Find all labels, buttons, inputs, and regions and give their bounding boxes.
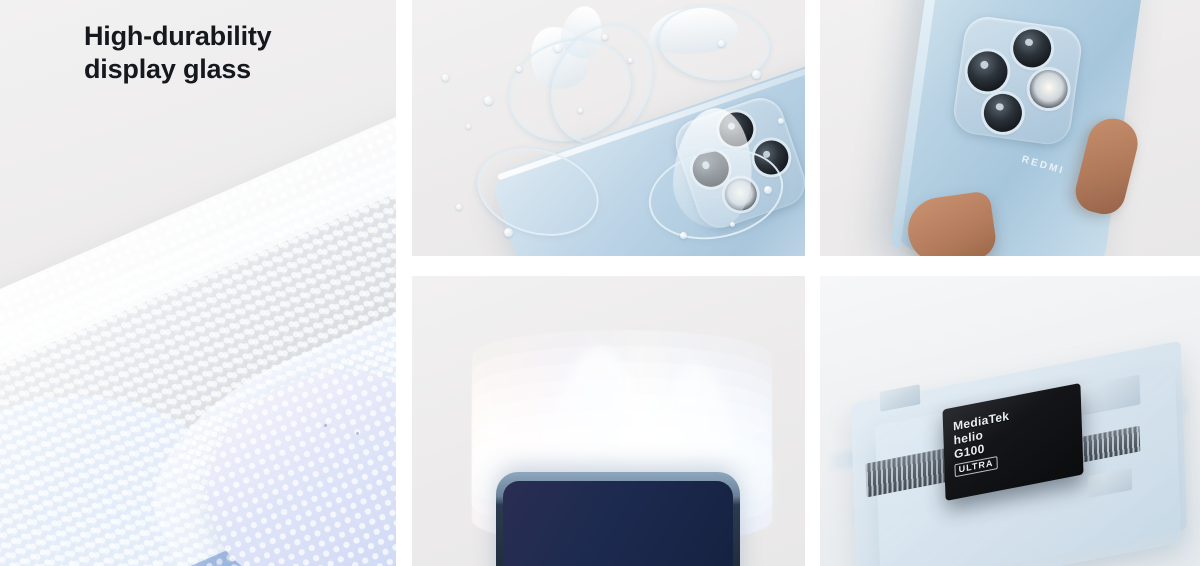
panel-mediatek-helio-g100-ultra: MediaTek helio G100 ULTRA MediaTek Helio… bbox=[820, 276, 1200, 566]
dust-speck bbox=[356, 432, 359, 435]
water-drop bbox=[484, 96, 493, 105]
water-drop bbox=[628, 58, 633, 63]
camera-lens-macro bbox=[981, 91, 1024, 134]
water-drop bbox=[680, 232, 687, 239]
lens-glint bbox=[980, 61, 989, 70]
panel-ip64-water-resistance: IP64 dust and water resistance2 bbox=[412, 0, 805, 256]
redmi-logo: REDMI bbox=[1020, 154, 1066, 177]
camera-lens-main bbox=[1011, 27, 1054, 70]
water-drop bbox=[466, 124, 471, 129]
camera-module bbox=[951, 14, 1084, 147]
feature-grid: High-durability display glass bbox=[0, 0, 1200, 566]
lens-glint bbox=[996, 103, 1005, 112]
panel-heading-durability: High-durability display glass bbox=[84, 20, 272, 86]
panel-108mp-camera: REDMI 108MP super-clear camera bbox=[820, 0, 1200, 256]
camera-illustration: REDMI bbox=[820, 0, 1200, 256]
water-drop bbox=[554, 44, 562, 52]
water-drop bbox=[516, 66, 522, 72]
camera-flash bbox=[1027, 68, 1070, 111]
phone-display-surface bbox=[503, 481, 733, 566]
water-resistance-illustration bbox=[412, 0, 805, 256]
water-drop bbox=[778, 118, 784, 124]
soc-label: MediaTek helio G100 ULTRA bbox=[953, 409, 1011, 478]
phone-screen-edge bbox=[496, 472, 740, 566]
display-illustration bbox=[412, 276, 805, 566]
chipset-illustration: MediaTek helio G100 ULTRA bbox=[820, 276, 1200, 566]
water-drop bbox=[718, 40, 725, 47]
water-drop bbox=[442, 74, 449, 81]
soc-label-line-4: ULTRA bbox=[954, 457, 997, 478]
water-drop bbox=[578, 108, 583, 113]
water-drop bbox=[752, 70, 761, 79]
panel-amoled-display: 6.77" FHD+ AMOLED display bbox=[412, 276, 805, 566]
camera-lens-wide bbox=[965, 49, 1010, 94]
water-drop bbox=[504, 228, 513, 237]
dust-speck bbox=[324, 424, 327, 427]
water-drop bbox=[602, 34, 608, 40]
lens-glint bbox=[1025, 38, 1034, 47]
water-drop bbox=[764, 186, 772, 194]
water-drop bbox=[730, 222, 735, 227]
water-drop bbox=[456, 204, 462, 210]
panel-high-durability-display-glass: High-durability display glass bbox=[0, 0, 396, 566]
